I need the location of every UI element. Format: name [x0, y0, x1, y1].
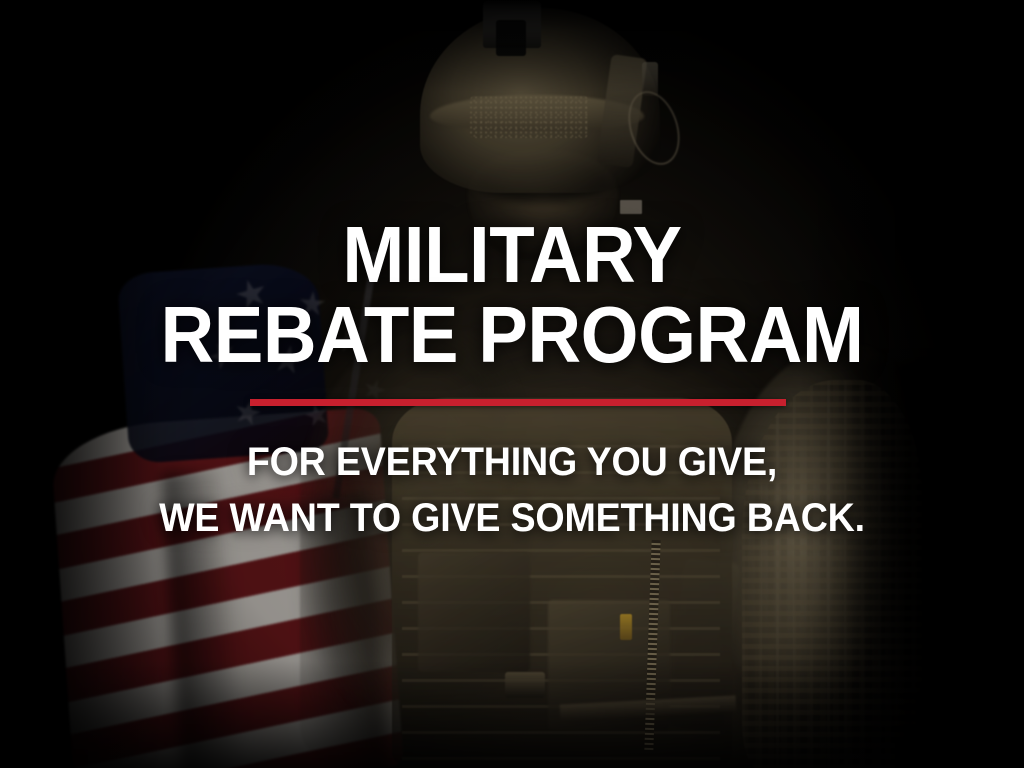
text-overlay: MILITARY REBATE PROGRAM FOR EVERYTHING Y… — [0, 0, 1024, 768]
subheadline-line-2: WE WANT TO GIVE SOMETHING BACK. — [31, 498, 994, 538]
headline-line-2: REBATE PROGRAM — [36, 296, 988, 374]
military-rebate-banner: MILITARY REBATE PROGRAM FOR EVERYTHING Y… — [0, 0, 1024, 768]
subheadline-line-1: FOR EVERYTHING YOU GIVE, — [31, 442, 994, 482]
divider-rule — [250, 399, 786, 406]
headline-line-1: MILITARY — [36, 216, 988, 294]
